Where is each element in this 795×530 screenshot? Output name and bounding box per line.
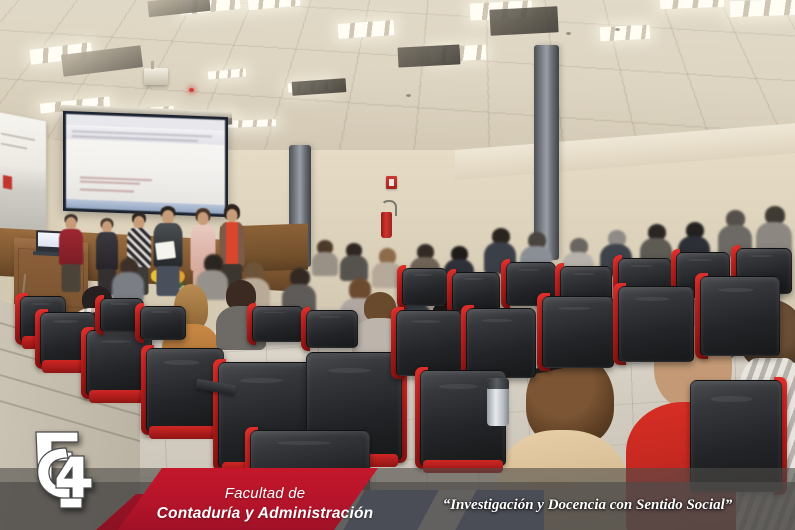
seat-back xyxy=(306,310,358,348)
ceiling-light xyxy=(600,25,651,42)
presenter-head xyxy=(162,210,174,224)
seat-back xyxy=(466,308,536,378)
projected-text xyxy=(80,188,134,192)
seat-back xyxy=(140,306,186,340)
wall-poster xyxy=(0,112,46,239)
smoke-detector xyxy=(615,28,620,31)
banner-grey-overlay-top xyxy=(0,468,795,482)
presenter xyxy=(152,206,184,294)
presenter-head xyxy=(227,209,238,222)
auditorium-seat[interactable] xyxy=(452,272,500,312)
auditorium-room xyxy=(0,0,795,530)
fca-logo xyxy=(26,428,98,514)
ceiling-air-vent xyxy=(398,44,461,67)
seat-back xyxy=(252,306,304,342)
seat-back xyxy=(700,276,780,356)
institution-line-2: Contaduría y Administración xyxy=(150,504,380,523)
poster-line xyxy=(1,143,27,150)
institution-name: Facultad de Contaduría y Administración xyxy=(150,485,380,523)
screenshot-root: Facultad de Contaduría y Administración … xyxy=(0,0,795,530)
smoke-detector xyxy=(566,32,571,35)
fire-alarm-pull-station xyxy=(386,176,397,189)
smoke-detector xyxy=(406,94,411,97)
seat-back xyxy=(396,310,462,376)
auditorium-seat[interactable] xyxy=(140,306,186,340)
bottom-banner: Facultad de Contaduría y Administración … xyxy=(0,468,795,530)
audience-member xyxy=(340,243,368,279)
auditorium-seat[interactable] xyxy=(396,310,462,376)
thermos xyxy=(487,378,509,426)
auditorium-seat[interactable] xyxy=(466,308,536,378)
auditorium-seat[interactable] xyxy=(542,296,614,368)
presenter-torso xyxy=(59,229,83,265)
seat-back xyxy=(402,268,448,306)
support-column xyxy=(534,45,559,260)
seat-back xyxy=(542,296,614,368)
auditorium-seat[interactable] xyxy=(618,286,694,362)
seat-cushion xyxy=(149,426,221,439)
seat-back xyxy=(618,286,694,362)
presenter-head xyxy=(198,212,209,225)
ceiling-indicator-light xyxy=(189,88,194,92)
poster-line xyxy=(1,133,35,142)
poster-accent xyxy=(3,175,12,190)
ceiling-air-vent xyxy=(489,6,558,36)
ceiling-projector xyxy=(144,68,168,85)
presenter xyxy=(58,214,84,290)
presenter-paper xyxy=(155,241,176,260)
projection-screen xyxy=(63,111,228,217)
tagline: “Investigación y Docencia con Sentido So… xyxy=(390,497,785,514)
projection-screen-surface xyxy=(66,114,225,214)
seat-back xyxy=(452,272,500,312)
auditorium-seat[interactable] xyxy=(700,276,780,356)
auditorium-seat[interactable] xyxy=(402,268,448,306)
auditorium-seat[interactable] xyxy=(252,306,304,342)
institution-line-1: Facultad de xyxy=(150,485,380,504)
ceiling-light xyxy=(730,0,795,17)
eyeglasses xyxy=(687,232,703,235)
auditorium-seat[interactable] xyxy=(306,310,358,348)
audience-member xyxy=(756,206,792,254)
projected-text xyxy=(80,180,140,184)
fire-extinguisher xyxy=(381,212,392,238)
